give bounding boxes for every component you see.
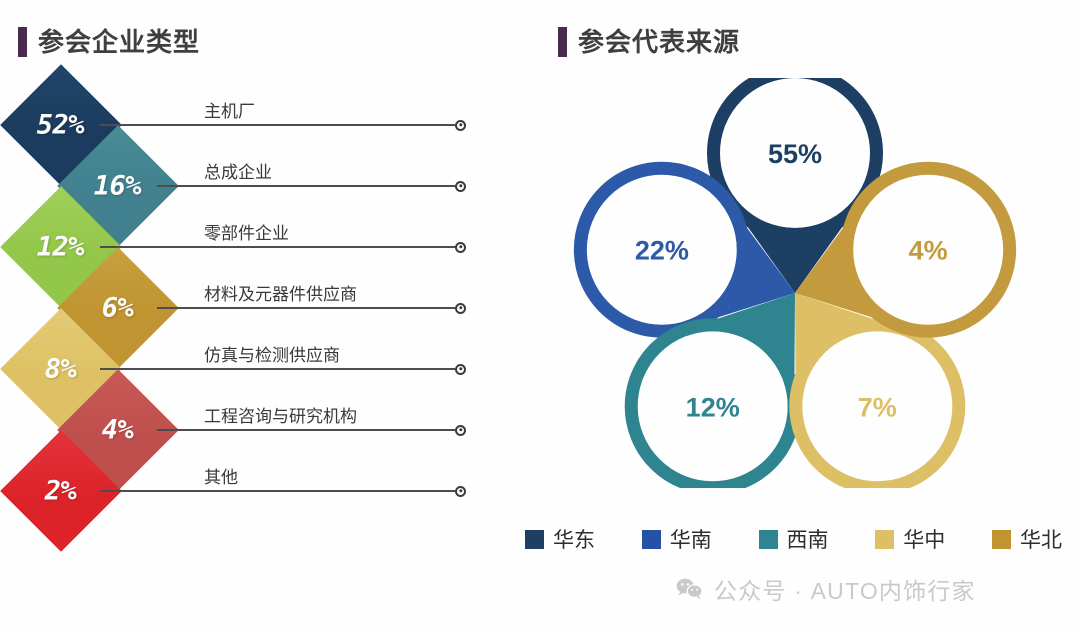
legend-label: 华东 [553, 524, 595, 554]
legend-color-swatch [992, 530, 1011, 549]
title-accent-bar [18, 27, 27, 57]
chart-legend: 华东华南西南华中华北 [517, 522, 1070, 556]
legend-label: 华中 [903, 524, 945, 554]
legend-color-swatch [642, 530, 661, 549]
heading-label: 参会代表来源 [578, 29, 740, 55]
petal-value-label: 12% [686, 392, 740, 422]
diamond-value: 6% [102, 292, 134, 323]
connector-endpoint-dot [455, 486, 466, 497]
petal-value-label: 55% [768, 139, 822, 169]
legend-color-swatch [525, 530, 544, 549]
watermark: 公众号 · AUTO内饰行家 [676, 572, 976, 606]
diamond-category-label: 工程咨询与研究机构 [204, 402, 357, 427]
legend-label: 西南 [787, 524, 829, 554]
legend-item[interactable]: 华东 [525, 524, 595, 554]
diamond-category-label: 其他 [204, 463, 238, 488]
legend-label: 华北 [1020, 524, 1062, 554]
diamond-category-label: 仿真与检测供应商 [204, 341, 340, 366]
diamond-category-label: 总成企业 [204, 158, 272, 183]
diamond-value: 52% [37, 110, 84, 141]
connector-endpoint-dot [455, 425, 466, 436]
connector-endpoint-dot [455, 364, 466, 375]
enterprise-type-panel: 参会企业类型 52%主机厂16%总成企业12%零部件企业6%材料及元器件供应商8… [0, 0, 540, 628]
connector-line [100, 368, 455, 370]
connector-endpoint-dot [455, 303, 466, 314]
petal-value-label: 4% [909, 236, 948, 266]
diamond-cascade-chart: 52%主机厂16%总成企业12%零部件企业6%材料及元器件供应商8%仿真与检测供… [0, 70, 540, 590]
page-title-left: 参会企业类型 [18, 27, 200, 57]
connector-line [157, 185, 455, 187]
connector-line [100, 124, 455, 126]
connector-endpoint-dot [455, 120, 466, 131]
legend-color-swatch [875, 530, 894, 549]
legend-item[interactable]: 西南 [759, 524, 829, 554]
petal-value-label: 22% [635, 236, 689, 266]
diamond-category-label: 主机厂 [204, 97, 255, 122]
connector-line [100, 490, 455, 492]
title-accent-bar [558, 27, 567, 57]
diamond-category-label: 材料及元器件供应商 [204, 280, 357, 305]
connector-line [157, 429, 455, 431]
wechat-icon [676, 578, 703, 600]
legend-item[interactable]: 华中 [875, 524, 945, 554]
connector-endpoint-dot [455, 242, 466, 253]
connector-line [100, 246, 455, 248]
watermark-text: 公众号 · AUTO内饰行家 [714, 572, 976, 606]
petal-ring-chart: 55%22%12%7%4% [555, 78, 1035, 488]
legend-color-swatch [759, 530, 778, 549]
legend-label: 华南 [670, 524, 712, 554]
page-title-right: 参会代表来源 [558, 27, 740, 57]
connector-endpoint-dot [455, 181, 466, 192]
legend-item[interactable]: 华北 [992, 524, 1062, 554]
heading-label: 参会企业类型 [38, 29, 200, 55]
diamond-value: 4% [102, 414, 134, 445]
diamond-value: 8% [45, 353, 77, 384]
diamond-category-label: 零部件企业 [204, 219, 289, 244]
petal-chart-svg: 55%22%12%7%4% [555, 78, 1035, 488]
legend-item[interactable]: 华南 [642, 524, 712, 554]
diamond-value: 12% [37, 232, 84, 263]
connector-line [157, 307, 455, 309]
petal-value-label: 7% [858, 392, 897, 422]
diamond-value: 2% [45, 475, 77, 506]
diamond-value: 16% [94, 171, 141, 202]
